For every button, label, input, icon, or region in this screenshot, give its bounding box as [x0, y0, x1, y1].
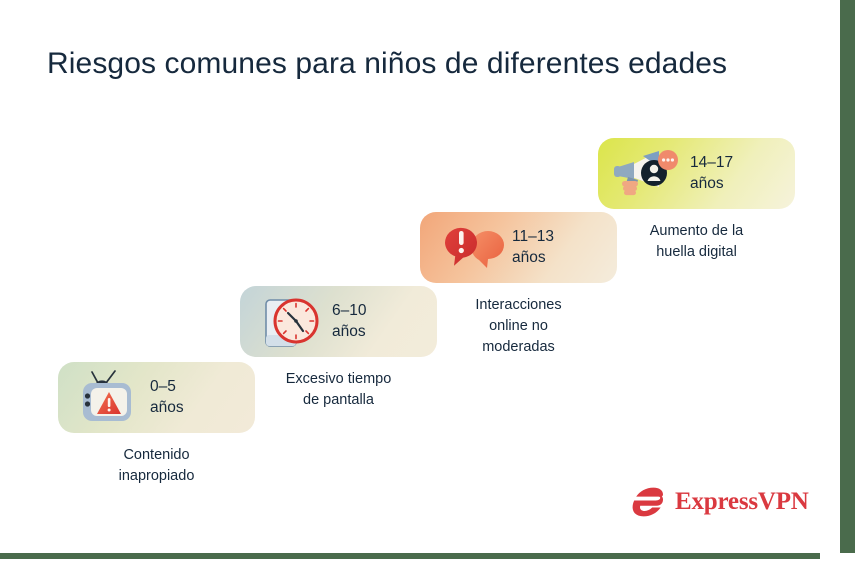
- step-age-label: 6–10 años: [332, 301, 366, 343]
- stair-chart: 0–5 años Contenido inapropiado: [0, 0, 855, 561]
- expressvpn-wordmark: ExpressVPN: [675, 488, 809, 516]
- expressvpn-e-mark: [632, 487, 666, 517]
- step-age-label: 0–5 años: [150, 377, 184, 419]
- speech-bubbles-alert-icon: [432, 217, 506, 279]
- step-item-0-5[interactable]: 0–5 años Contenido inapropiado: [58, 362, 255, 487]
- step-caption: Excesivo tiempo de pantalla: [240, 369, 437, 411]
- step-card-6-10[interactable]: 6–10 años: [240, 286, 437, 357]
- megaphone-profile-icon: [610, 143, 684, 205]
- step-item-11-13[interactable]: 11–13 años Interacciones online no moder…: [420, 212, 617, 358]
- step-age-label: 11–13 años: [512, 227, 554, 269]
- step-card-14-17[interactable]: 14–17 años: [598, 138, 795, 209]
- expressvpn-logo[interactable]: ExpressVPN: [632, 487, 809, 517]
- step-caption: Interacciones online no moderadas: [420, 295, 617, 358]
- step-card-0-5[interactable]: 0–5 años: [58, 362, 255, 433]
- step-item-6-10[interactable]: 6–10 años Excesivo tiempo de pantalla: [240, 286, 437, 411]
- step-item-14-17[interactable]: 14–17 años Aumento de la huella digital: [598, 138, 795, 263]
- phone-clock-icon: [252, 291, 326, 353]
- tv-warning-icon: [70, 367, 144, 429]
- step-age-label: 14–17 años: [690, 153, 733, 195]
- step-caption: Contenido inapropiado: [58, 445, 255, 487]
- step-card-11-13[interactable]: 11–13 años: [420, 212, 617, 283]
- step-caption: Aumento de la huella digital: [598, 221, 795, 263]
